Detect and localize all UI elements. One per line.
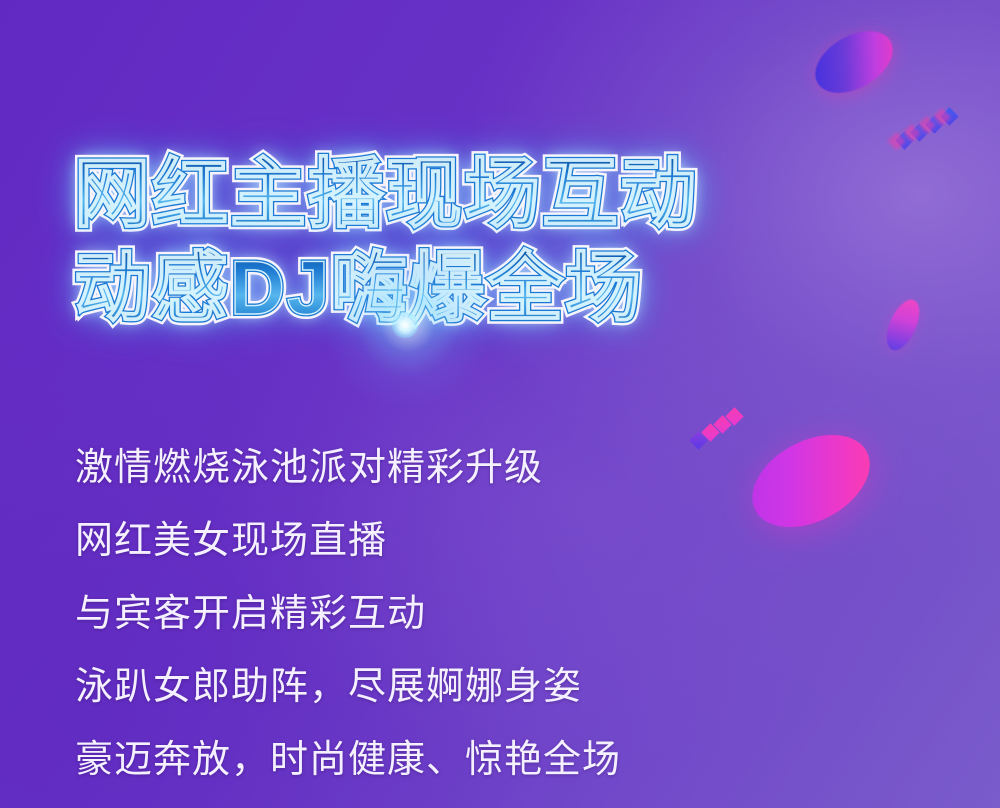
headline-line-1-innerline: 网红主播现场互动 (74, 150, 698, 240)
headline-line-1: 网红主播现场互动 网红主播现场互动 网红主播现场互动 网红主播现场互动 (74, 150, 834, 240)
body-line: 与宾客开启精彩互动 (75, 578, 905, 651)
headline-line-2-innerline: 动感DJ嗨爆全场 (74, 244, 643, 334)
headline-block: 网红主播现场互动 网红主播现场互动 网红主播现场互动 网红主播现场互动 动感DJ… (74, 150, 834, 334)
blue-square-chain-icon (898, 108, 958, 152)
body-line: 豪迈奔放，时尚健康、惊艳全场 (75, 724, 905, 797)
promo-poster: 网红主播现场互动 网红主播现场互动 网红主播现场互动 网红主播现场互动 动感DJ… (0, 0, 1000, 808)
body-line: 网红美女现场直播 (75, 505, 905, 578)
lens-flare-core-icon (392, 312, 418, 338)
body-line: 泳趴女郎助阵，尽展婀娜身姿 (75, 651, 905, 724)
headline-line-2: 动感DJ嗨爆全场 动感DJ嗨爆全场 动感DJ嗨爆全场 动感DJ嗨爆全场 (74, 244, 834, 334)
body-copy-block: 激情燃烧泳池派对精彩升级 网红美女现场直播 与宾客开启精彩互动 泳趴女郎助阵，尽… (75, 432, 905, 797)
body-line: 激情燃烧泳池派对精彩升级 (75, 432, 905, 505)
